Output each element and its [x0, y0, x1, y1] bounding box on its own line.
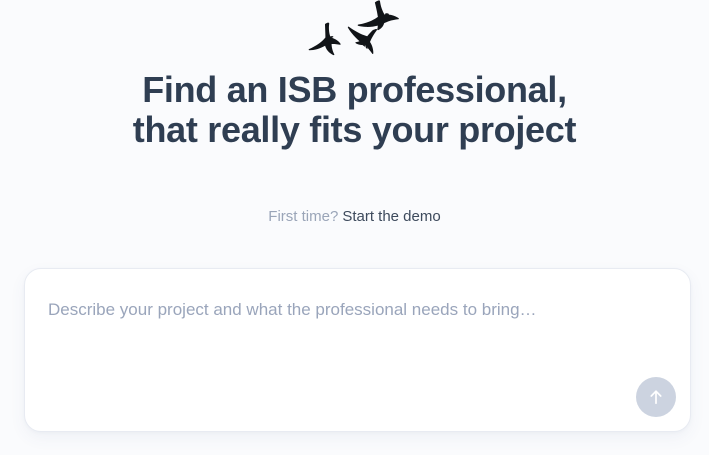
prompt-input-card[interactable]: Describe your project and what the profe…: [24, 268, 691, 432]
flying-geese-logo: [296, 0, 414, 58]
headline-line-2: that really fits your project: [0, 110, 709, 150]
landing-page: Find an ISB professional, that really fi…: [0, 0, 709, 455]
demo-prompt-row: First time?Start the demo: [0, 207, 709, 227]
arrow-up-icon: [647, 388, 665, 406]
submit-button[interactable]: [636, 377, 676, 417]
headline-line-1: Find an ISB professional,: [0, 70, 709, 110]
page-title: Find an ISB professional, that really fi…: [0, 70, 709, 150]
project-description-input[interactable]: Describe your project and what the profe…: [48, 299, 648, 321]
demo-prefix-label: First time?: [268, 208, 338, 225]
start-demo-link[interactable]: Start the demo: [342, 208, 440, 225]
logo-container: [0, 0, 709, 58]
